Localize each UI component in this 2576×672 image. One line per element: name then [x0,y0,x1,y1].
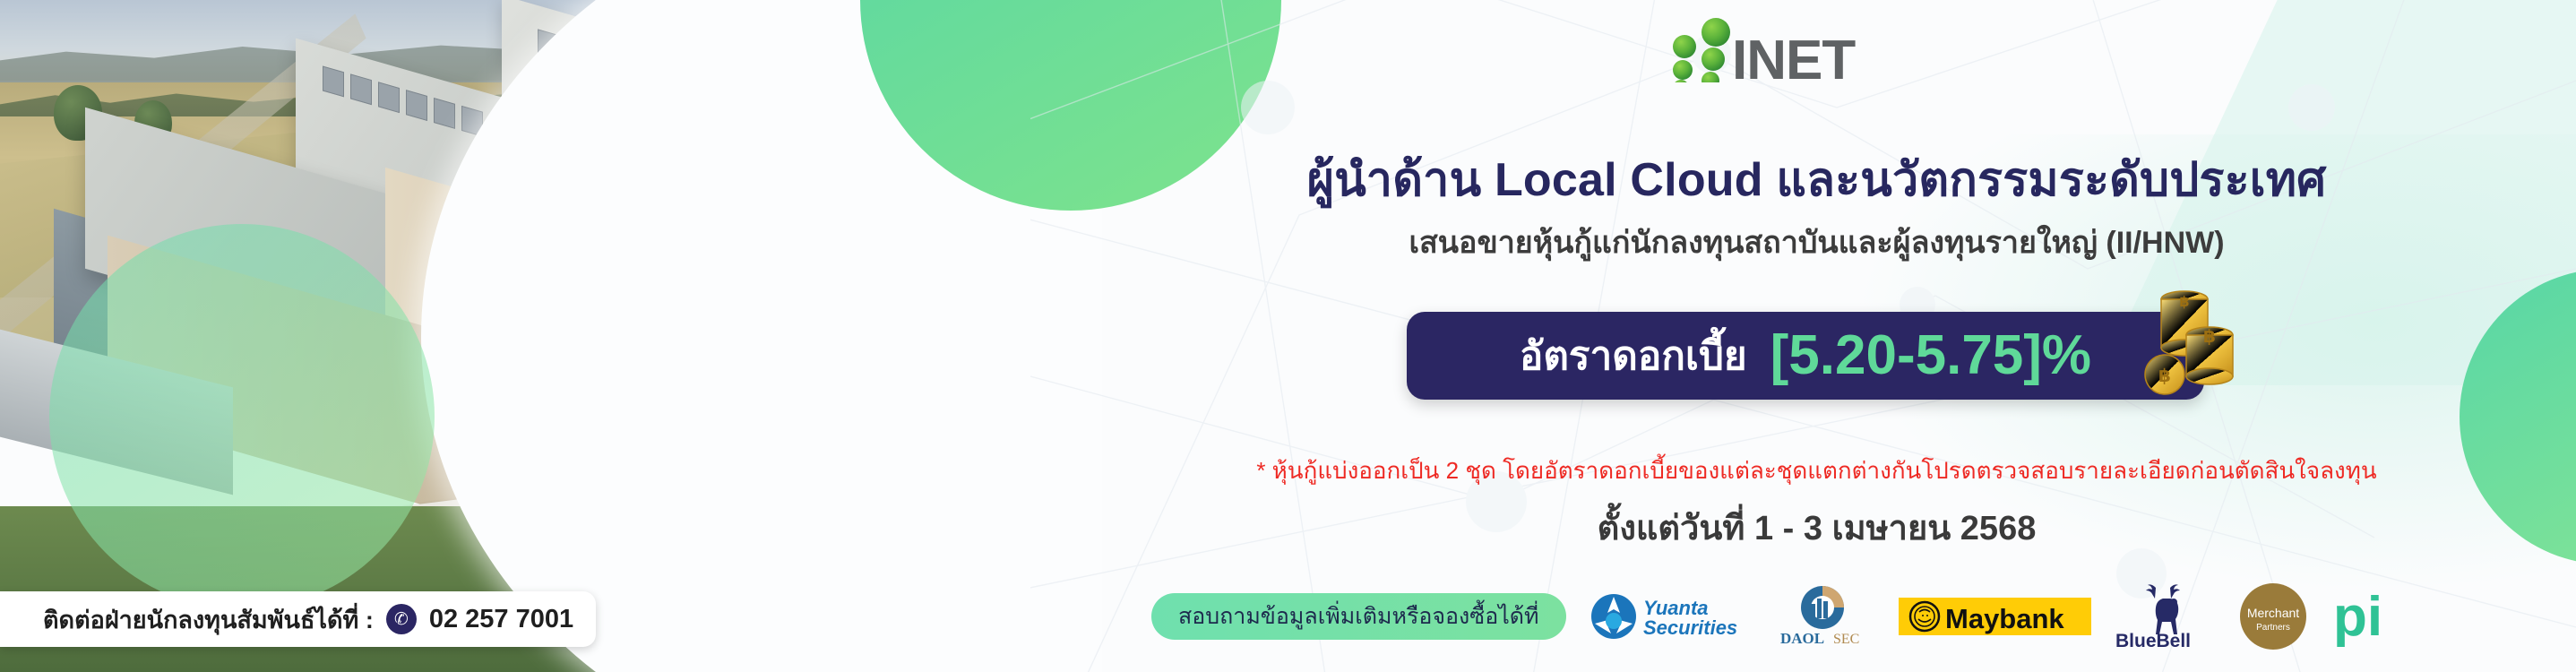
cta-inquiry-button[interactable]: สอบถามข้อมูลเพิ่มเติมหรือจองซื้อได้ที่ [1151,593,1566,640]
page-title: ผู้นำด้าน Local Cloud และนวัตกรรมระดับปร… [1057,142,2576,216]
content-column: INET ผู้นำด้าน Local Cloud และนวัตกรรมระ… [1057,0,2576,672]
partner-logo-yuanta-securities[interactable]: Yuanta Securities [1590,591,1746,642]
yuanta-star-icon [1591,594,1636,639]
partners-row: สอบถามข้อมูลเพิ่มเติมหรือจองซื้อได้ที่ Y… [1057,581,2576,652]
inet-logo: INET [1653,14,1949,82]
disclaimer-text: * หุ้นกู้แบ่งออกเป็น 2 ชุด โดยอัตราดอกเบ… [1057,452,2576,489]
interest-rate-label: อัตราดอกเบี้ย [1520,324,1747,387]
svg-text:฿: ฿ [2158,366,2171,386]
phone-icon: ✆ [386,604,417,634]
partner-logo-daol-sec[interactable]: DAOL SEC [1770,584,1875,649]
investor-relations-contact[interactable]: ติดต่อฝ่ายนักลงทุนสัมพันธ์ได้ที่ : ✆ 02 … [0,591,596,647]
interest-rate-value: [5.20-5.75]% [1770,328,2091,383]
maybank-wordmark: Maybank [1945,603,2064,634]
bluebell-wordmark: BlueBell [2115,631,2191,650]
page-subtitle: เสนอขายหุ้นกู้แก่นักลงทุนสถาบันและผู้ลงท… [1057,218,2576,266]
partner-logo-merchant-partners[interactable]: Merchant Partners [2238,582,2308,651]
inet-logo-text: INET [1732,30,1856,82]
decor-blob-bottom-left [49,224,435,609]
bluebell-deer-icon [2146,584,2180,634]
svg-text:฿: ฿ [2179,295,2189,310]
yuanta-line2: Securities [1643,616,1737,639]
promo-banner: INET ผู้นำด้าน Local Cloud และนวัตกรรมระ… [0,0,2576,672]
merchant-line1: Merchant [2246,606,2298,620]
inet-logo-mark: INET [1653,14,1949,82]
daol-line2: SEC [1833,632,1859,647]
contact-label: ติดต่อฝ่ายนักลงทุนสัมพันธ์ได้ที่ : [43,600,374,639]
partner-logo-bluebell[interactable]: BlueBell [2115,582,2215,650]
daol-line1: DAOL [1780,630,1824,647]
offering-dateline: ตั้งแต่วันที่ 1 - 3 เมษายน 2568 [1057,500,2576,555]
inet-dots-icon [1673,18,1730,82]
merchant-line2: Partners [2256,623,2290,633]
contact-phone-number[interactable]: 02 257 7001 [429,605,573,634]
maybank-tiger-icon [1910,602,1939,631]
gold-coins-icon: ฿ ฿ ฿ [2132,285,2240,401]
partner-logo-pi-securities[interactable]: pi [2331,585,2405,648]
pi-wordmark: pi [2333,586,2382,648]
daol-circle-icon [1801,586,1844,629]
interest-rate-box: อัตราดอกเบี้ย [5.20-5.75]% [1407,312,2204,400]
svg-text:฿: ฿ [2203,327,2216,347]
partner-logo-maybank[interactable]: Maybank [1899,596,2091,637]
cta-label: สอบถามข้อมูลเพิ่มเติมหรือจองซื้อได้ที่ [1178,599,1539,634]
